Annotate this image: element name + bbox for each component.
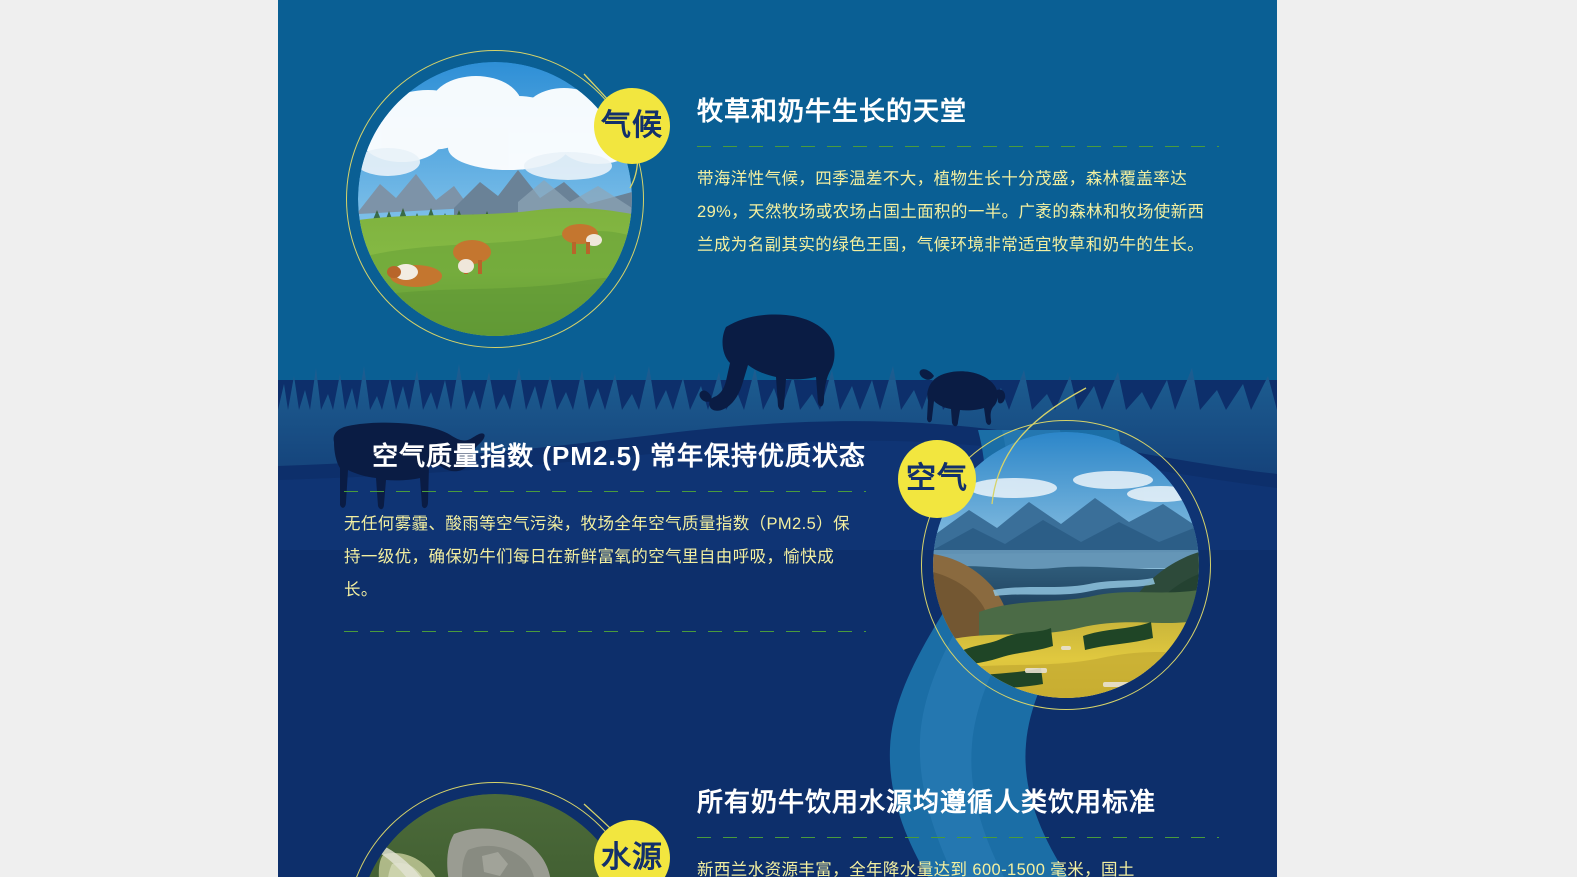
air-divider — [344, 491, 866, 492]
climate-headline: 牧草和奶牛生长的天堂 — [697, 95, 1219, 129]
infographic-poster: 气候 牧草和奶牛生长的天堂 带海洋性气候，四季温差不大，植物生长十分茂盛，森林覆… — [278, 0, 1277, 877]
water-badge-label: 水源 — [601, 843, 663, 873]
air-divider-bottom — [344, 631, 866, 632]
section-air: 空气质量指数 (PM2.5) 常年保持优质状态 无任何雾霾、酸雨等空气污染，牧场… — [344, 440, 866, 648]
water-headline: 所有奶牛饮用水源均遵循人类饮用标准 — [697, 786, 1219, 820]
climate-badge-label: 气候 — [601, 111, 663, 141]
water-divider — [697, 837, 1219, 838]
section-climate: 牧草和奶牛生长的天堂 带海洋性气候，四季温差不大，植物生长十分茂盛，森林覆盖率达… — [697, 95, 1219, 262]
air-badge-label: 空气 — [906, 464, 968, 494]
page-canvas: 气候 牧草和奶牛生长的天堂 带海洋性气候，四季温差不大，植物生长十分茂盛，森林覆… — [0, 0, 1577, 877]
air-badge: 空气 — [898, 440, 976, 518]
air-body: 无任何雾霾、酸雨等空气污染，牧场全年空气质量指数（PM2.5）保持一级优，确保奶… — [344, 508, 866, 607]
cow-silhouette-grazing — [698, 305, 838, 430]
climate-body: 带海洋性气候，四季温差不大，植物生长十分茂盛，森林覆盖率达 29%，天然牧场或农… — [697, 163, 1219, 262]
air-headline: 空气质量指数 (PM2.5) 常年保持优质状态 — [344, 440, 866, 474]
alpine-meadow-photo — [358, 62, 632, 336]
water-body: 新西兰水资源丰富，全年降水量达到 600-1500 毫米，国土 — [697, 854, 1219, 877]
climate-badge: 气候 — [594, 88, 670, 164]
cow-silhouette-small — [918, 360, 1006, 430]
section-water: 所有奶牛饮用水源均遵循人类饮用标准 新西兰水资源丰富，全年降水量达到 600-1… — [697, 786, 1219, 877]
climate-divider — [697, 146, 1219, 147]
